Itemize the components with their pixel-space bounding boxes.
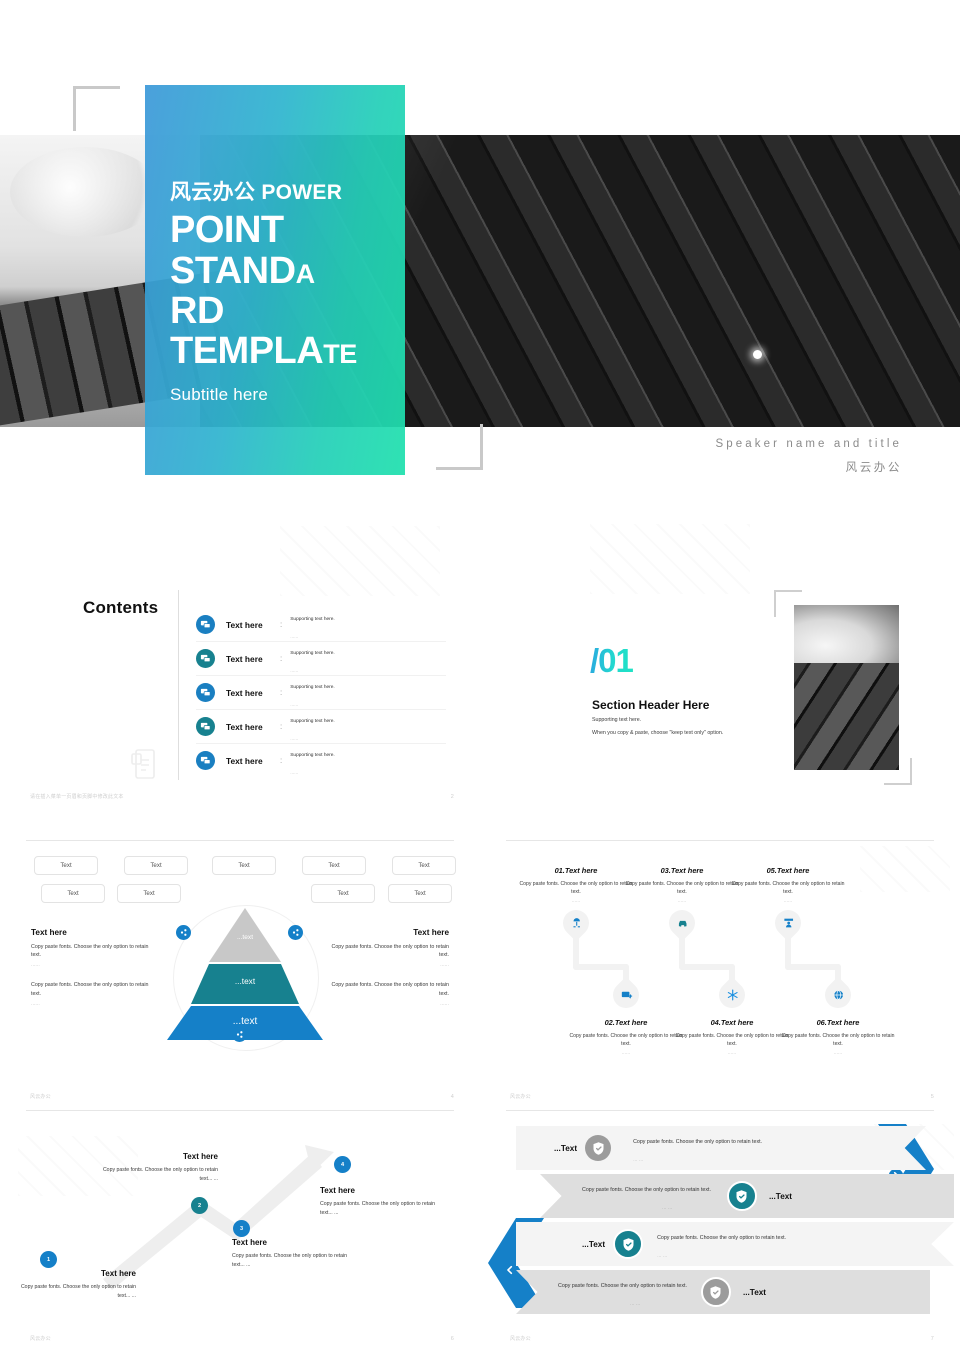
- slide-chevrons: ...Text Copy paste fonts. Choose the onl…: [480, 1110, 960, 1352]
- section-photo: [794, 605, 899, 770]
- chevron-band[interactable]: ...Text Copy paste fonts. Choose the onl…: [516, 1222, 954, 1266]
- step-body: Copy paste fonts. Choose the only option…: [100, 1166, 218, 1183]
- process-item: 02.Text here Copy paste fonts. Choose th…: [566, 1018, 686, 1056]
- block-dots: ......: [321, 962, 449, 968]
- item-dots: ......: [566, 1050, 686, 1056]
- band-body: Copy paste fonts. Choose the only option…: [558, 1283, 687, 1289]
- slide-footer-text: 请在插入菜单一页眉和页脚中修改此文本: [30, 793, 124, 800]
- mail-add-icon[interactable]: [608, 977, 645, 1014]
- support-text: Supporting text here.: [290, 651, 335, 656]
- slide-section-header: /01 Section Header Here Supporting text …: [480, 510, 960, 810]
- step-body: Copy paste fonts. Choose the only option…: [232, 1252, 350, 1269]
- tag-box[interactable]: Text: [124, 856, 188, 875]
- colon-separator: :: [280, 722, 282, 731]
- step-number[interactable]: 1: [40, 1251, 57, 1268]
- item-dots: ......: [516, 898, 636, 904]
- cover-background-photo: [0, 135, 960, 427]
- section-support-1: Supporting text here.: [592, 717, 641, 723]
- background-watermark: [860, 846, 950, 892]
- process-item: 04.Text here Copy paste fonts. Choose th…: [672, 1018, 792, 1056]
- background-watermark: [280, 526, 440, 596]
- step-heading: Text here: [18, 1269, 136, 1278]
- cover-big-line1: POINT: [170, 210, 400, 250]
- chevron-band[interactable]: Copy paste fonts. Choose the only option…: [540, 1174, 954, 1218]
- document-icon: [130, 748, 158, 782]
- block-dots: ......: [31, 1001, 159, 1007]
- screen-share-icon: [196, 683, 215, 702]
- item-body: Copy paste fonts. Choose the only option…: [728, 880, 848, 896]
- list-item-label: Text here: [226, 654, 276, 664]
- block-paragraph: Copy paste fonts. Choose the only option…: [31, 981, 159, 997]
- band-dots: ... ...: [633, 1157, 643, 1163]
- list-item-label: Text here: [226, 620, 276, 630]
- connector-line: [679, 964, 735, 970]
- band-text-block: Copy paste fonts. Choose the only option…: [633, 1130, 762, 1166]
- list-item[interactable]: Text here : Supporting text here. ......: [196, 608, 446, 642]
- cloud-shape: [10, 147, 160, 237]
- list-item-support: Supporting text here. ......: [290, 709, 335, 745]
- slide-divider: [26, 840, 454, 841]
- step-block: Text here Copy paste fonts. Choose the o…: [18, 1269, 136, 1300]
- slide-footer-text: 风云办公: [30, 1335, 51, 1342]
- process-item: 01.Text here Copy paste fonts. Choose th…: [516, 866, 636, 904]
- support-dots: ......: [290, 635, 298, 640]
- speaker-block: Speaker name and title 风云办公: [716, 438, 902, 475]
- section-title: Section Header Here: [592, 698, 709, 712]
- shield-check-icon: [613, 1229, 643, 1259]
- slide-zigzag: 1 2 3 4 Text here Copy paste fonts. Choo…: [0, 1110, 480, 1352]
- list-item[interactable]: Text here : Supporting text here. ......: [196, 710, 446, 744]
- car-icon[interactable]: [664, 905, 701, 942]
- screen-share-icon: [196, 717, 215, 736]
- screen-share-icon: [196, 751, 215, 770]
- band-label: ...Text: [743, 1288, 766, 1297]
- bracket-bottom-right: [436, 424, 483, 470]
- cover-big-line2-main: STAND: [170, 250, 296, 292]
- item-body: Copy paste fonts. Choose the only option…: [516, 880, 636, 896]
- list-item-support: Supporting text here. ......: [290, 641, 335, 677]
- item-title: 03.Text here: [622, 866, 742, 875]
- slide-footer-text: 风云办公: [30, 1093, 51, 1100]
- slide-divider: [506, 840, 934, 841]
- process-item: 03.Text here Copy paste fonts. Choose th…: [622, 866, 742, 904]
- slide-contents: Contents Text here : Supporting text her…: [0, 510, 480, 810]
- band-dots: ... ...: [662, 1205, 672, 1211]
- item-dots: ......: [672, 1050, 792, 1056]
- presentation-preview: 风云办公 POWER POINT STANDA RD TEMPLATE Subt…: [0, 0, 960, 1352]
- block-paragraph: Copy paste fonts. Choose the only option…: [321, 943, 449, 959]
- step-block: Text here Copy paste fonts. Choose the o…: [320, 1186, 438, 1217]
- band-dots: ... ...: [630, 1301, 640, 1307]
- support-text: Supporting text here.: [290, 617, 335, 622]
- vertical-divider: [178, 590, 179, 780]
- band-text-block: Copy paste fonts. Choose the only option…: [582, 1178, 711, 1214]
- item-dots: ......: [778, 1050, 898, 1056]
- band-body: Copy paste fonts. Choose the only option…: [657, 1235, 786, 1241]
- share-icon[interactable]: [176, 925, 191, 940]
- band-text-block: Copy paste fonts. Choose the only option…: [657, 1226, 786, 1262]
- tag-box[interactable]: Text: [392, 856, 456, 875]
- contents-list: Text here : Supporting text here. ......…: [196, 608, 446, 777]
- bracket-top-left: [73, 86, 120, 131]
- cover-big-line3-main: RD TEMPLA: [170, 290, 323, 372]
- block-dots: ......: [31, 962, 159, 968]
- block-paragraph: Copy paste fonts. Choose the only option…: [321, 981, 449, 997]
- speaker-name: Speaker name and title: [716, 438, 902, 450]
- block-heading: Text here: [321, 928, 449, 937]
- chevron-band[interactable]: ...Text Copy paste fonts. Choose the onl…: [516, 1126, 926, 1170]
- item-title: 04.Text here: [672, 1018, 792, 1027]
- shield-check-icon: [701, 1277, 731, 1307]
- item-body: Copy paste fonts. Choose the only option…: [672, 1032, 792, 1048]
- item-title: 05.Text here: [728, 866, 848, 875]
- step-number[interactable]: 3: [233, 1220, 250, 1237]
- light-reflection: [753, 350, 762, 359]
- support-dots: ......: [290, 737, 298, 742]
- section-support-2: When you copy & paste, choose "keep text…: [592, 730, 723, 736]
- slide-footer-text: 风云办公: [510, 1093, 531, 1100]
- slide-divider: [506, 1110, 934, 1111]
- slide-pyramid: Text Text Text Text Text Text Text Text …: [0, 840, 480, 1110]
- lamp-icon[interactable]: [558, 905, 595, 942]
- list-item-label: Text here: [226, 688, 276, 698]
- process-item: 06.Text here Copy paste fonts. Choose th…: [778, 1018, 898, 1056]
- tag-box[interactable]: Text: [34, 856, 98, 875]
- cover-big-line2-small: A: [296, 259, 315, 289]
- band-body: Copy paste fonts. Choose the only option…: [633, 1139, 762, 1145]
- list-item[interactable]: Text here : Supporting text here. ......: [196, 676, 446, 710]
- slide-process: 01.Text here Copy paste fonts. Choose th…: [480, 840, 960, 1110]
- globe-icon[interactable]: [820, 977, 857, 1014]
- right-text-block: Text here Copy paste fonts. Choose the o…: [321, 928, 449, 1020]
- slide-page-number: 4: [451, 1094, 454, 1100]
- slide-page-number: 2: [451, 794, 454, 800]
- block-dots: ......: [321, 1001, 449, 1007]
- tag-box[interactable]: Text: [117, 884, 181, 903]
- item-dots: ......: [622, 898, 742, 904]
- support-text: Supporting text here.: [290, 685, 335, 690]
- tag-box[interactable]: Text: [302, 856, 366, 875]
- cover-line1: 风云办公 POWER: [170, 180, 400, 206]
- slide-cover: 风云办公 POWER POINT STANDA RD TEMPLATE Subt…: [0, 0, 960, 510]
- tag-box[interactable]: Text: [41, 884, 105, 903]
- band-label: ...Text: [582, 1240, 605, 1249]
- list-item[interactable]: Text here : Supporting text here. ......: [196, 744, 446, 777]
- step-block: Text here Copy paste fonts. Choose the o…: [100, 1152, 218, 1183]
- item-dots: ......: [728, 898, 848, 904]
- support-text: Supporting text here.: [290, 719, 335, 724]
- background-watermark: [590, 524, 750, 594]
- colon-separator: :: [280, 620, 282, 629]
- tag-box[interactable]: Text: [311, 884, 375, 903]
- band-body: Copy paste fonts. Choose the only option…: [582, 1187, 711, 1193]
- band-dots: ... ...: [657, 1253, 667, 1259]
- step-heading: Text here: [232, 1238, 350, 1247]
- left-text-block: Text here Copy paste fonts. Choose the o…: [31, 928, 159, 1020]
- support-dots: ......: [290, 771, 298, 776]
- item-body: Copy paste fonts. Choose the only option…: [566, 1032, 686, 1048]
- screen-share-icon: [196, 649, 215, 668]
- step-heading: Text here: [100, 1152, 218, 1161]
- tag-box[interactable]: Text: [388, 884, 452, 903]
- colon-separator: :: [280, 756, 282, 765]
- cover-big-line2: STANDA: [170, 251, 400, 291]
- band-label: ...Text: [554, 1144, 577, 1153]
- list-item-support: Supporting text here. ......: [290, 675, 335, 711]
- band-text-block: Copy paste fonts. Choose the only option…: [558, 1274, 687, 1310]
- slide-page-number: 5: [931, 1094, 934, 1100]
- colon-separator: :: [280, 688, 282, 697]
- item-title: 06.Text here: [778, 1018, 898, 1027]
- band-label: ...Text: [769, 1192, 792, 1201]
- item-body: Copy paste fonts. Choose the only option…: [622, 880, 742, 896]
- cover-subtitle: Subtitle here: [170, 385, 400, 405]
- list-item-support: Supporting text here. ......: [290, 743, 335, 779]
- shield-check-icon: [727, 1181, 757, 1211]
- tag-box[interactable]: Text: [212, 856, 276, 875]
- share-icon[interactable]: [288, 925, 303, 940]
- slide-footer-text: 风云办公: [510, 1335, 531, 1342]
- step-heading: Text here: [320, 1186, 438, 1195]
- support-dots: ......: [290, 703, 298, 708]
- step-body: Copy paste fonts. Choose the only option…: [18, 1283, 136, 1300]
- list-item-label: Text here: [226, 756, 276, 766]
- cover-big-line3-small: TE: [323, 339, 357, 369]
- section-number: /01: [590, 642, 633, 680]
- cover-big-line3: RD TEMPLATE: [170, 291, 400, 372]
- step-number[interactable]: 4: [334, 1156, 351, 1173]
- screen-share-icon: [196, 615, 215, 634]
- presenter-icon[interactable]: [770, 905, 807, 942]
- slide-page-number: 6: [451, 1336, 454, 1342]
- colon-separator: :: [280, 654, 282, 663]
- support-dots: ......: [290, 669, 298, 674]
- step-block: Text here Copy paste fonts. Choose the o…: [232, 1238, 350, 1269]
- list-item-label: Text here: [226, 722, 276, 732]
- list-item-support: Supporting text here. ......: [290, 607, 335, 643]
- step-number[interactable]: 2: [191, 1197, 208, 1214]
- share-icon[interactable]: [232, 1027, 247, 1042]
- item-body: Copy paste fonts. Choose the only option…: [778, 1032, 898, 1048]
- snowflake-icon[interactable]: [714, 977, 751, 1014]
- block-paragraph: Copy paste fonts. Choose the only option…: [31, 943, 159, 959]
- cover-title-block: 风云办公 POWER POINT STANDA RD TEMPLATE Subt…: [170, 180, 400, 405]
- support-text: Supporting text here.: [290, 753, 335, 758]
- page-title: Contents: [83, 598, 158, 618]
- step-body: Copy paste fonts. Choose the only option…: [320, 1200, 438, 1217]
- list-item[interactable]: Text here : Supporting text here. ......: [196, 642, 446, 676]
- photo-sky: [794, 605, 899, 663]
- slide-page-number: 7: [931, 1336, 934, 1342]
- speaker-org: 风云办公: [716, 459, 902, 475]
- item-title: 01.Text here: [516, 866, 636, 875]
- connector-line: [785, 964, 841, 970]
- shield-check-icon: [585, 1135, 611, 1161]
- chevron-band[interactable]: Copy paste fonts. Choose the only option…: [516, 1270, 930, 1314]
- item-title: 02.Text here: [566, 1018, 686, 1027]
- process-item: 05.Text here Copy paste fonts. Choose th…: [728, 866, 848, 904]
- block-heading: Text here: [31, 928, 159, 937]
- connector-line: [573, 964, 629, 970]
